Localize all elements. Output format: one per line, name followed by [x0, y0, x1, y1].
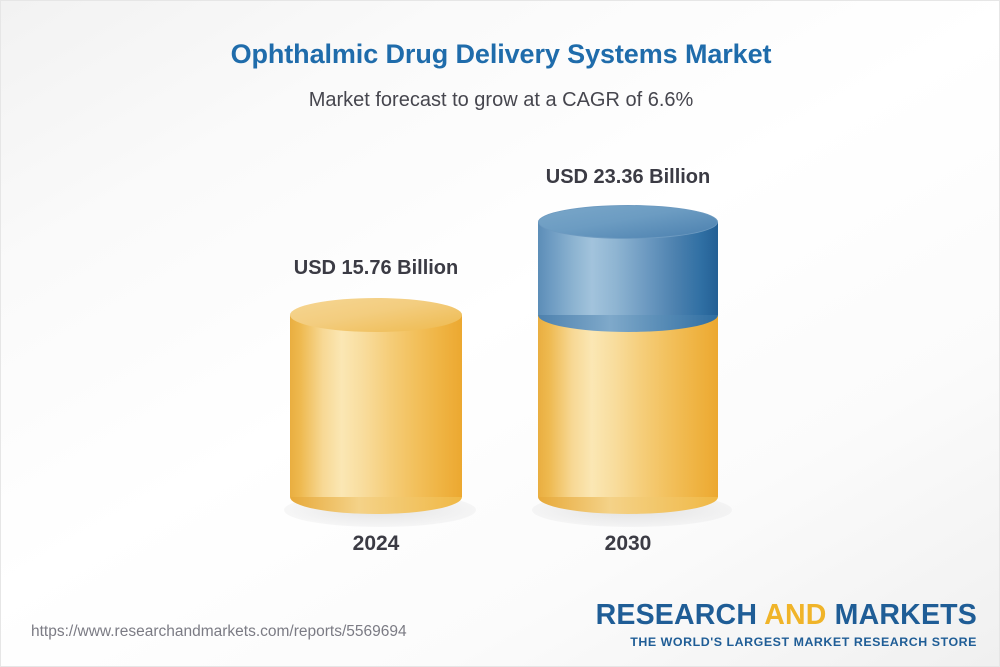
x-axis-label-2024: 2024	[260, 532, 492, 556]
bar-2030-segment-base	[538, 315, 718, 497]
brand-logo-word-and: AND	[764, 599, 826, 631]
bar-2024-segment-base	[290, 315, 462, 497]
brand-logo-wordmark: RESEARCH AND MARKETS	[596, 601, 977, 630]
chart-subtitle: Market forecast to grow at a CAGR of 6.6…	[1, 89, 1000, 112]
x-axis-label-2030: 2030	[512, 532, 744, 556]
bar-2030-top-cap	[538, 205, 718, 239]
bar-2024[interactable]	[290, 298, 462, 514]
brand-logo-word-markets: MARKETS	[835, 599, 977, 631]
bar-2030[interactable]	[538, 205, 718, 514]
chart-title: Ophthalmic Drug Delivery Systems Market	[1, 39, 1000, 70]
bar-value-label-2030: USD 23.36 Billion	[512, 166, 744, 189]
bar-2030-segment-growth	[538, 222, 718, 315]
brand-logo-word-research: RESEARCH	[596, 599, 758, 631]
brand-logo-tagline: THE WORLD'S LARGEST MARKET RESEARCH STOR…	[596, 636, 977, 648]
chart-canvas: Ophthalmic Drug Delivery Systems Market …	[0, 0, 1000, 667]
bar-2030-base-body-overlay	[538, 315, 718, 497]
bar-value-label-2024: USD 15.76 Billion	[260, 257, 492, 280]
brand-logo[interactable]: RESEARCH AND MARKETS THE WORLD'S LARGEST…	[596, 601, 977, 648]
report-url[interactable]: https://www.researchandmarkets.com/repor…	[31, 623, 407, 641]
bar-2024-body-overlay	[290, 315, 462, 497]
bar-2024-top-cap	[290, 298, 462, 332]
